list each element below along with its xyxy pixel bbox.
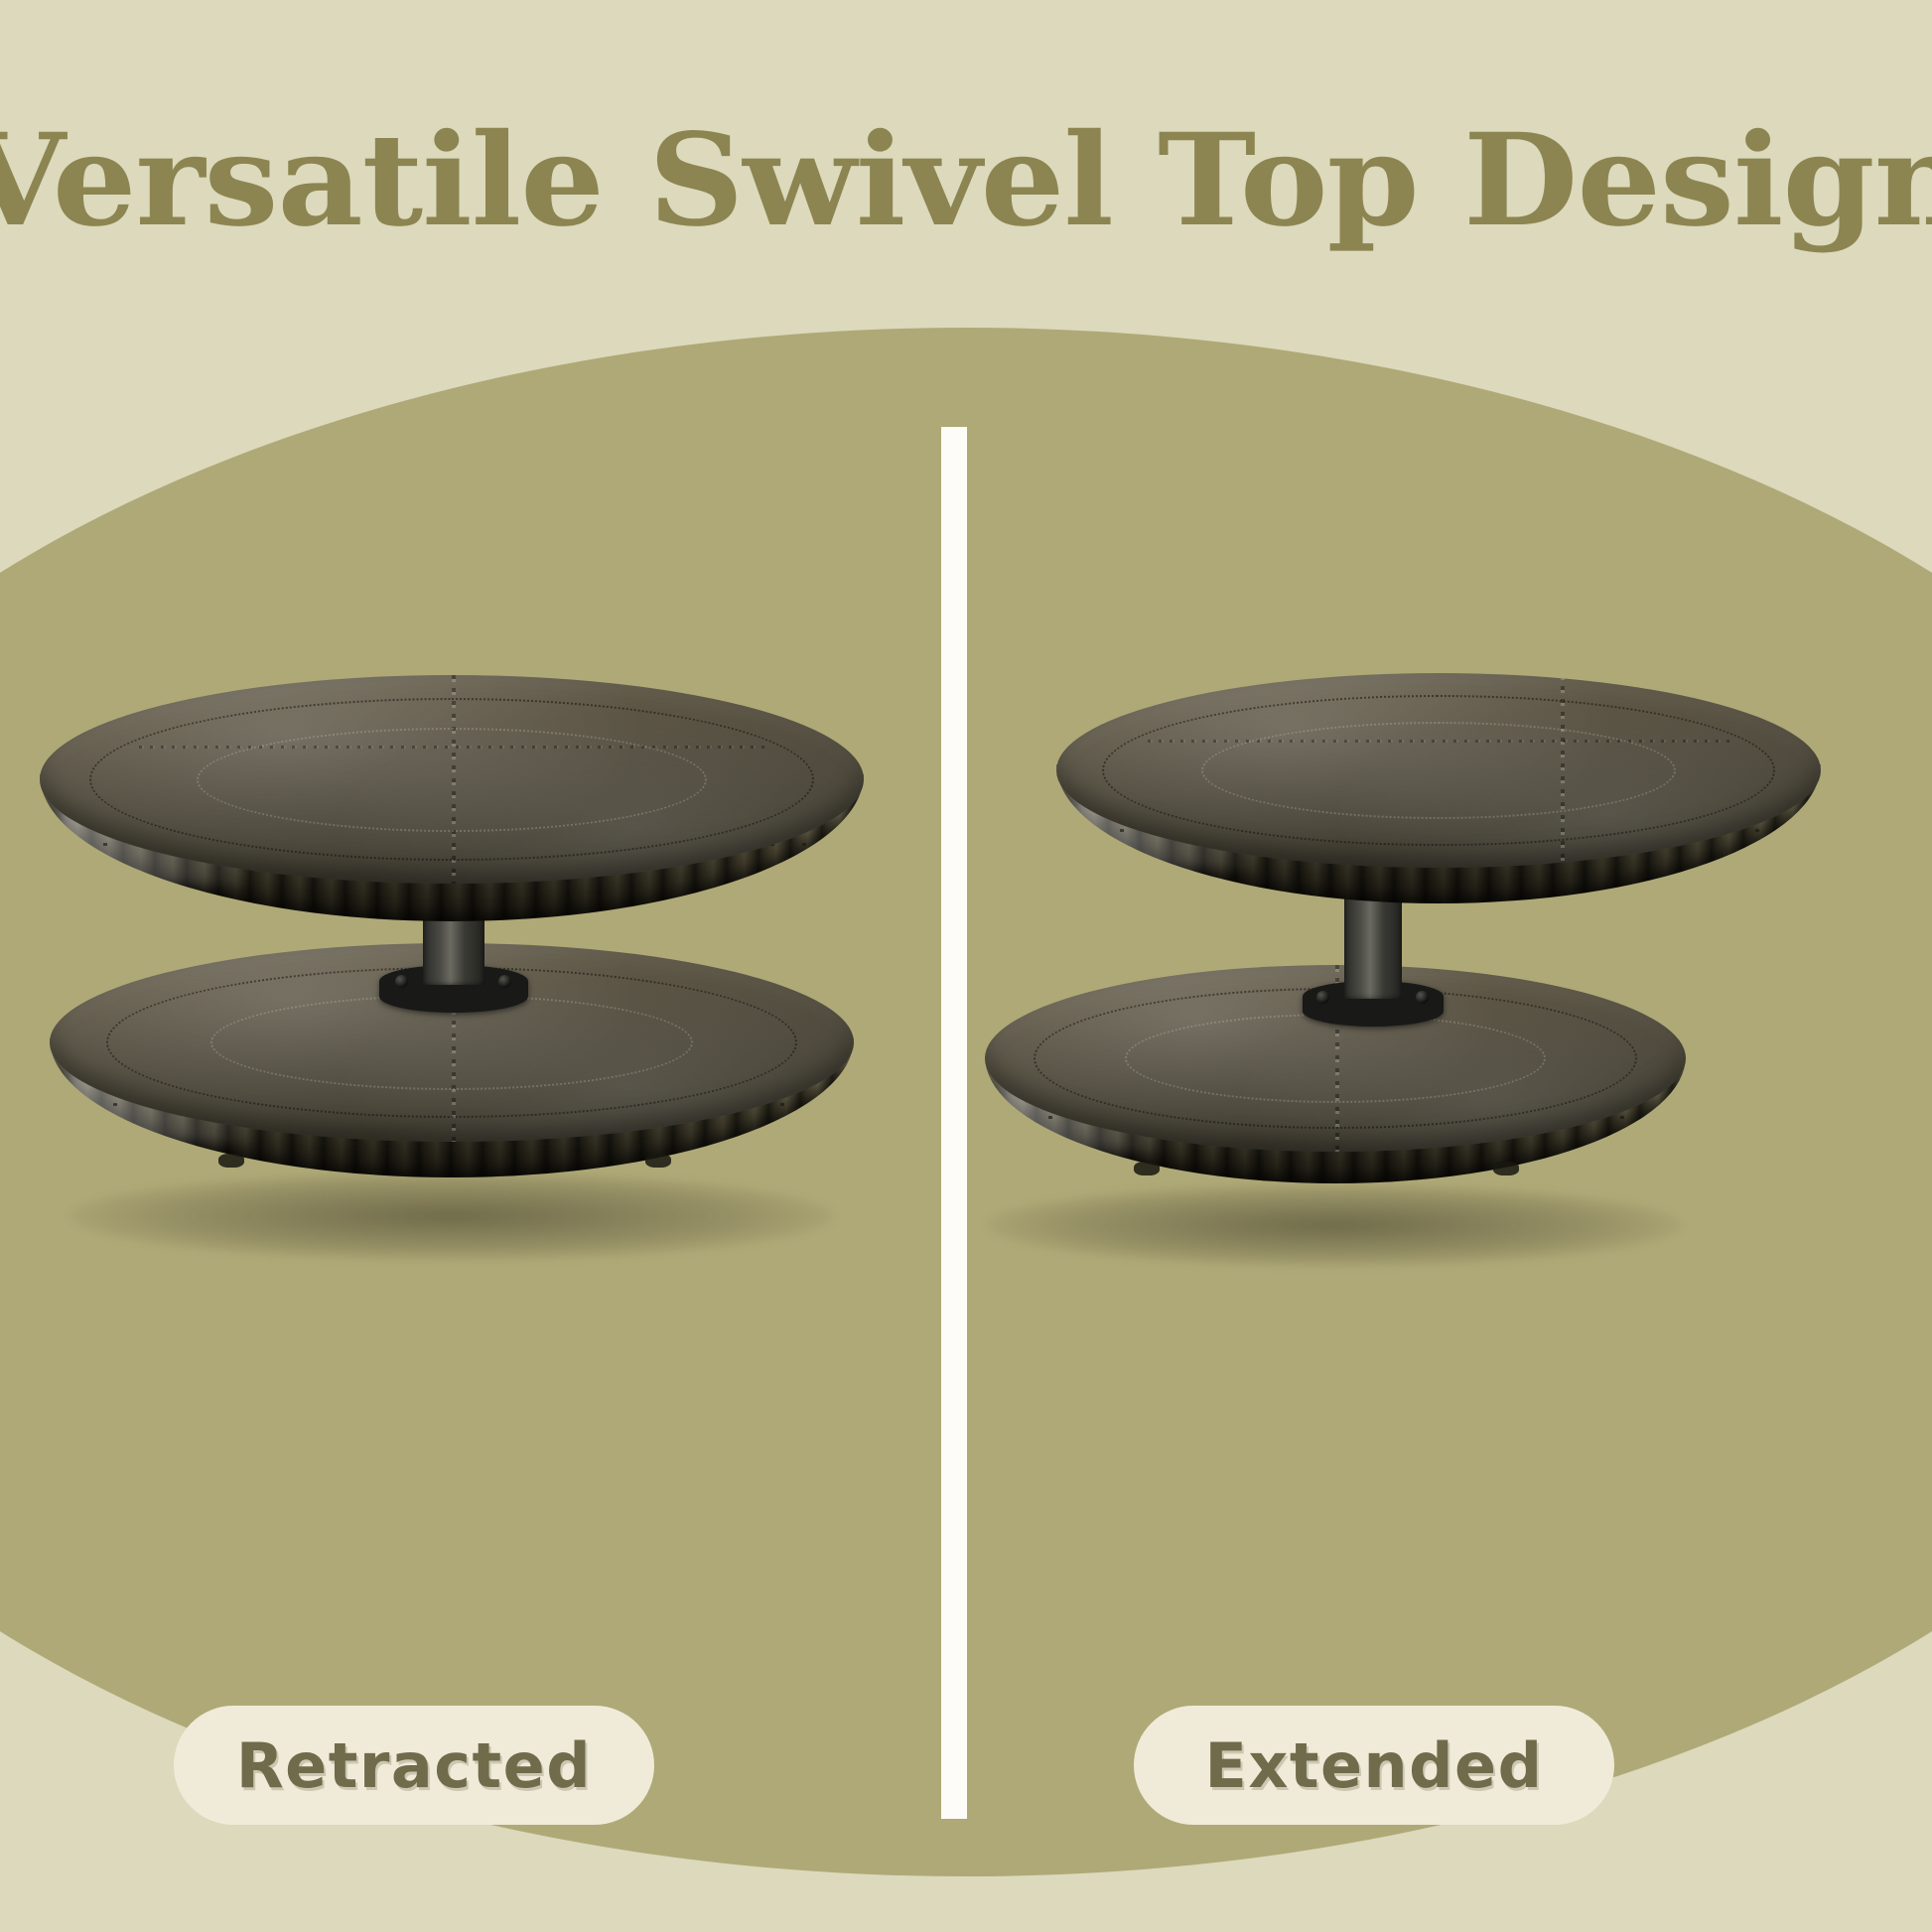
pedestal-bolt xyxy=(395,975,408,988)
state-badge-retracted[interactable]: Retracted xyxy=(174,1706,654,1825)
product-image-retracted xyxy=(30,616,913,1251)
pedestal-bolt xyxy=(1416,991,1429,1004)
pedestal-bolt xyxy=(498,975,511,988)
table-swivel-top-disc xyxy=(40,675,864,884)
state-badge-extended[interactable]: Extended xyxy=(1134,1706,1614,1825)
base-foot xyxy=(1134,1162,1160,1175)
base-foot xyxy=(645,1154,671,1168)
product-image-extended xyxy=(927,616,1811,1251)
comparison-pane-left: Retracted xyxy=(0,427,941,1819)
base-floor-shadow xyxy=(69,1172,834,1261)
pedestal-bolt xyxy=(1316,991,1329,1004)
top-disc-face xyxy=(1056,673,1821,868)
base-foot xyxy=(218,1154,244,1168)
comparison-pane-right: Extended xyxy=(967,427,1908,1819)
poster-canvas: Versatile Swivel Top Design xyxy=(0,0,1932,1932)
top-disc-face xyxy=(40,675,864,884)
state-badge-retracted-label: Retracted xyxy=(236,1729,592,1802)
state-badge-extended-label: Extended xyxy=(1205,1729,1544,1802)
base-foot xyxy=(1493,1162,1519,1175)
base-floor-shadow xyxy=(987,1183,1682,1267)
table-swivel-top-disc xyxy=(1056,673,1821,868)
page-title: Versatile Swivel Top Design xyxy=(0,117,1932,244)
